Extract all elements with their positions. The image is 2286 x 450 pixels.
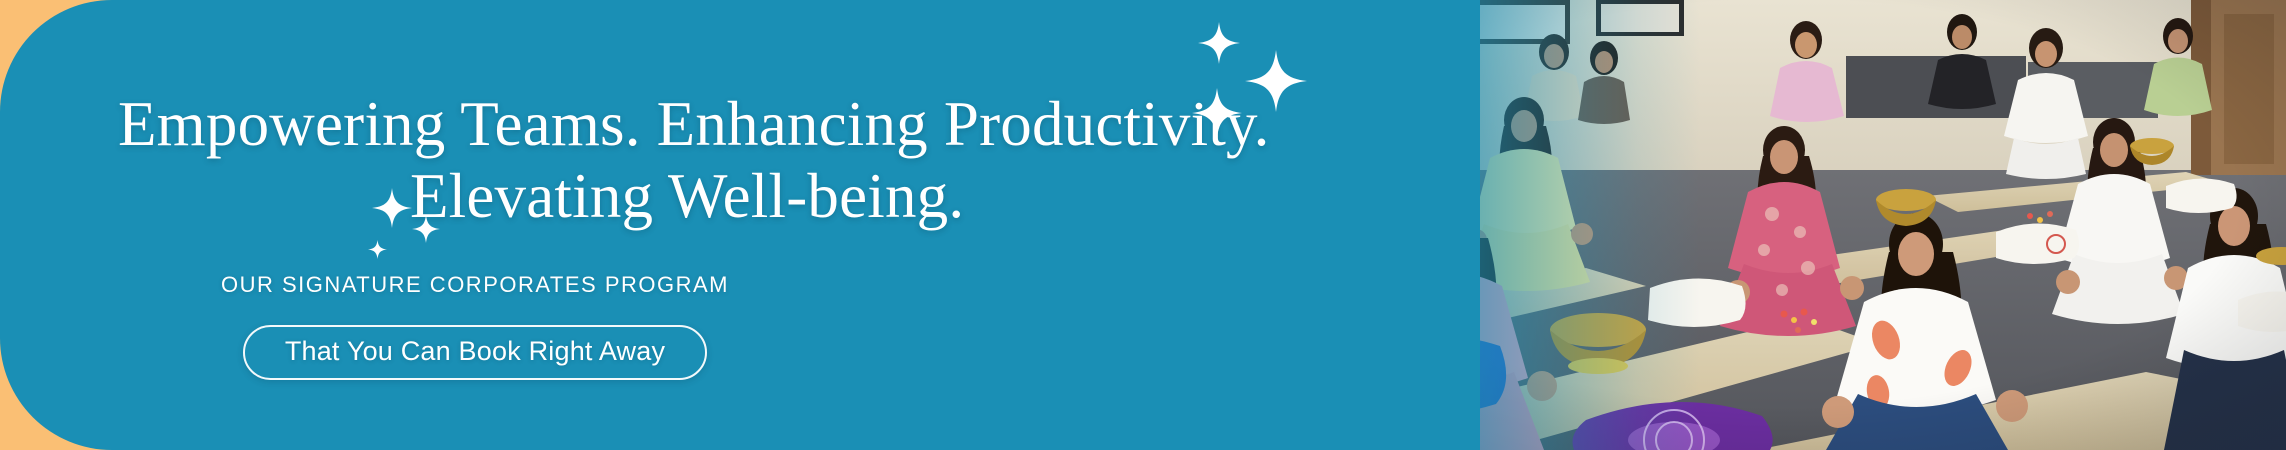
program-kicker: OUR SIGNATURE CORPORATES PROGRAM [0,272,1380,298]
corporate-program-banner: Empowering Teams. Enhancing Productivity… [0,0,2286,450]
book-now-button[interactable]: That You Can Book Right Away [243,325,707,380]
headline-line-1: Empowering Teams. Enhancing Productivity… [0,88,1300,160]
banner-content: Empowering Teams. Enhancing Productivity… [0,0,1380,450]
page-title: Empowering Teams. Enhancing Productivity… [0,88,1300,232]
headline-line-2: Elevating Well-being. [0,160,1300,232]
cta-container: That You Can Book Right Away [0,325,1380,380]
